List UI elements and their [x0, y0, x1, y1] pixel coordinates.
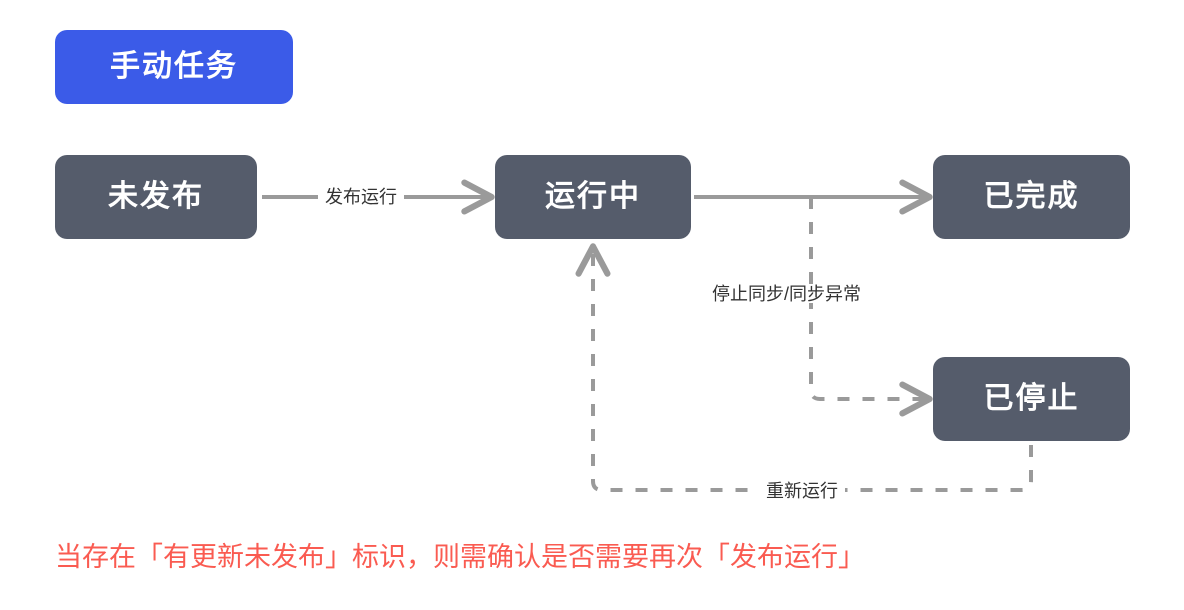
manual-task-badge: 手动任务	[55, 30, 293, 104]
state-node-completed[interactable]: 已完成	[933, 155, 1130, 239]
edge-label-rerun: 重新运行	[759, 482, 845, 500]
edge-label-stop-sync: 停止同步/同步异常	[705, 285, 868, 303]
state-node-stopped-label: 已停止	[984, 384, 1080, 414]
state-node-completed-label: 已完成	[984, 182, 1080, 212]
footnote-note: 当存在「有更新未发布」标识，则需确认是否需要再次「发布运行」	[55, 541, 865, 575]
state-node-unpublished-label: 未发布	[108, 182, 204, 212]
edge-label-publish-run: 发布运行	[318, 188, 404, 206]
manual-task-badge-label: 手动任务	[110, 52, 238, 82]
state-node-running-label: 运行中	[545, 182, 641, 212]
state-node-stopped[interactable]: 已停止	[933, 357, 1130, 441]
state-node-unpublished[interactable]: 未发布	[55, 155, 257, 239]
state-node-running[interactable]: 运行中	[495, 155, 691, 239]
